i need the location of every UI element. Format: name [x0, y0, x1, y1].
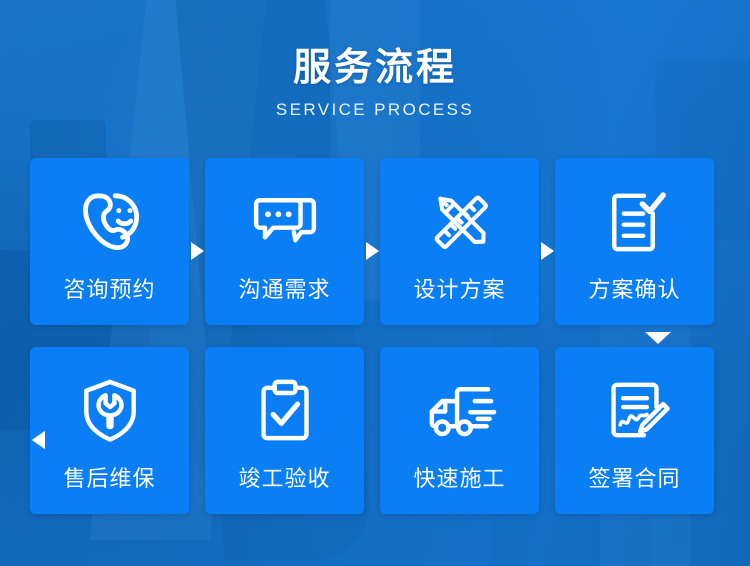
- process-card-construction[interactable]: 快速施工: [380, 347, 539, 514]
- process-card-acceptance[interactable]: 竣工验收: [205, 347, 364, 514]
- page-header: 服务流程 SERVICE PROCESS: [0, 44, 750, 120]
- service-process-grid: 咨询预约 沟通需求: [30, 158, 720, 514]
- process-card-contract[interactable]: 签署合同: [555, 347, 714, 514]
- chat-bubbles-icon: [248, 184, 322, 258]
- process-card-plan-confirm[interactable]: 方案确认: [555, 158, 714, 325]
- process-card-label: 方案确认: [588, 276, 680, 304]
- process-card-label: 设计方案: [413, 276, 505, 304]
- clipboard-check-icon: [248, 373, 322, 447]
- phone-smiley-icon: [73, 184, 147, 258]
- process-card-label: 签署合同: [588, 465, 680, 493]
- arrow-right-icon: [189, 240, 205, 262]
- process-card-after-sales[interactable]: 售后维保: [30, 347, 189, 514]
- process-card-design[interactable]: 设计方案: [380, 158, 539, 325]
- process-card-label: 售后维保: [63, 465, 155, 493]
- page-subtitle: SERVICE PROCESS: [0, 100, 750, 120]
- page-title: 服务流程: [0, 44, 750, 92]
- fast-truck-icon: [423, 373, 497, 447]
- process-card-label: 竣工验收: [238, 465, 330, 493]
- shield-wrench-icon: [73, 373, 147, 447]
- process-row-bottom: 售后维保 竣工验收: [30, 347, 720, 514]
- process-card-label: 沟通需求: [238, 276, 330, 304]
- contract-sign-icon: [598, 373, 672, 447]
- document-check-icon: [598, 184, 672, 258]
- process-card-label: 咨询预约: [63, 276, 155, 304]
- process-card-label: 快速施工: [413, 465, 505, 493]
- arrow-right-icon: [539, 240, 555, 262]
- pencil-ruler-icon: [423, 184, 497, 258]
- process-card-consultation[interactable]: 咨询预约: [30, 158, 189, 325]
- process-row-top: 咨询预约 沟通需求: [30, 158, 720, 325]
- arrow-right-icon: [364, 240, 380, 262]
- process-card-communication[interactable]: 沟通需求: [205, 158, 364, 325]
- arrow-down-icon: [644, 327, 672, 349]
